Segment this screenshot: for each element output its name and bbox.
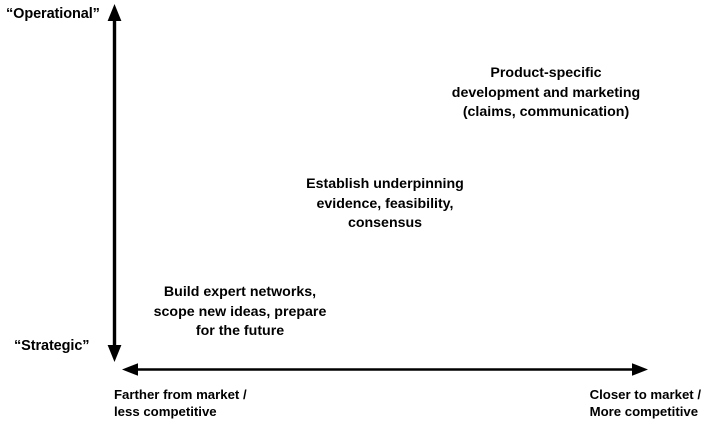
annotation-build-expert-networks: Build expert networks, scope new ideas, … <box>154 283 327 342</box>
x-axis-right-label-line-2: More competitive <box>590 404 701 421</box>
annotation-line: (claims, communication) <box>452 103 640 123</box>
annotation-line: scope new ideas, prepare <box>154 303 327 323</box>
annotation-line: Build expert networks, <box>154 283 327 303</box>
annotation-line: consensus <box>306 214 464 234</box>
x-axis-right-label: Closer to market / More competitive <box>590 387 701 420</box>
vertical-axis <box>108 4 122 362</box>
vertical-axis-arrow-up-icon <box>108 4 122 21</box>
x-axis-right-label-line-1: Closer to market / <box>590 387 701 404</box>
diagram-canvas: “Operational” “Strategic” Farther from m… <box>0 0 709 424</box>
x-axis-left-label-line-2: less competitive <box>114 404 247 421</box>
y-axis-bottom-label: “Strategic” <box>14 338 89 354</box>
annotation-line: Establish underpinning <box>306 175 464 195</box>
x-axis-left-label: Farther from market / less competitive <box>114 387 247 420</box>
annotation-line: for the future <box>154 322 327 342</box>
horizontal-axis <box>122 363 648 376</box>
annotation-establish-underpinning: Establish underpinning evidence, feasibi… <box>306 175 464 234</box>
annotation-line: Product-specific <box>452 64 640 84</box>
horizontal-axis-arrow-left-icon <box>122 363 138 376</box>
annotation-line: development and marketing <box>452 84 640 104</box>
annotation-product-specific: Product-specific development and marketi… <box>452 64 640 123</box>
y-axis-top-label: “Operational” <box>6 6 100 22</box>
horizontal-axis-arrow-right-icon <box>632 363 648 376</box>
vertical-axis-arrow-down-icon <box>108 345 122 362</box>
annotation-line: evidence, feasibility, <box>306 195 464 215</box>
x-axis-left-label-line-1: Farther from market / <box>114 387 247 404</box>
